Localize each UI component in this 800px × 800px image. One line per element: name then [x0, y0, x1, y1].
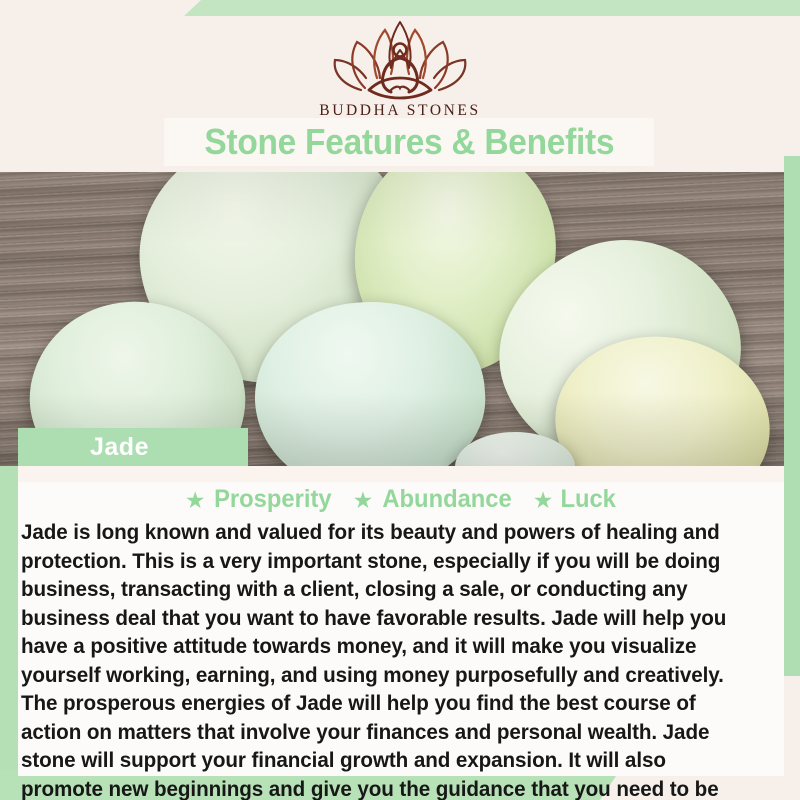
keyword-label: Luck — [560, 485, 615, 514]
lotus-meditation-icon — [325, 16, 475, 100]
keyword-list: ★ Prosperity ★ Abundance ★ Luck — [18, 482, 784, 516]
brand-logo: BUDDHA STONES — [0, 16, 800, 120]
keyword-label: Abundance — [382, 485, 511, 514]
photo-vignette — [0, 172, 800, 466]
star-icon: ★ — [533, 489, 553, 509]
page-title: Stone Features & Benefits — [204, 121, 614, 163]
stone-name-label: Jade — [90, 433, 149, 462]
stone-name-banner: Jade — [18, 428, 248, 466]
star-icon: ★ — [185, 489, 205, 509]
keyword-item: ★ Luck — [533, 485, 617, 514]
title-band: Stone Features & Benefits — [164, 118, 654, 166]
star-icon: ★ — [353, 489, 373, 509]
right-green-bar — [784, 156, 800, 676]
keyword-item: ★ Prosperity — [185, 485, 335, 514]
jade-stones-photo — [0, 172, 800, 466]
keyword-item: ★ Abundance — [353, 485, 515, 514]
keyword-label: Prosperity — [214, 485, 331, 514]
content-panel: ★ Prosperity ★ Abundance ★ Luck Jade is … — [18, 466, 784, 776]
content-inner: ★ Prosperity ★ Abundance ★ Luck Jade is … — [18, 482, 784, 776]
poster-canvas: BUDDHA STONES Stone Features & Benefits … — [0, 0, 800, 800]
stone-description: Jade is long known and valued for its be… — [21, 518, 751, 800]
